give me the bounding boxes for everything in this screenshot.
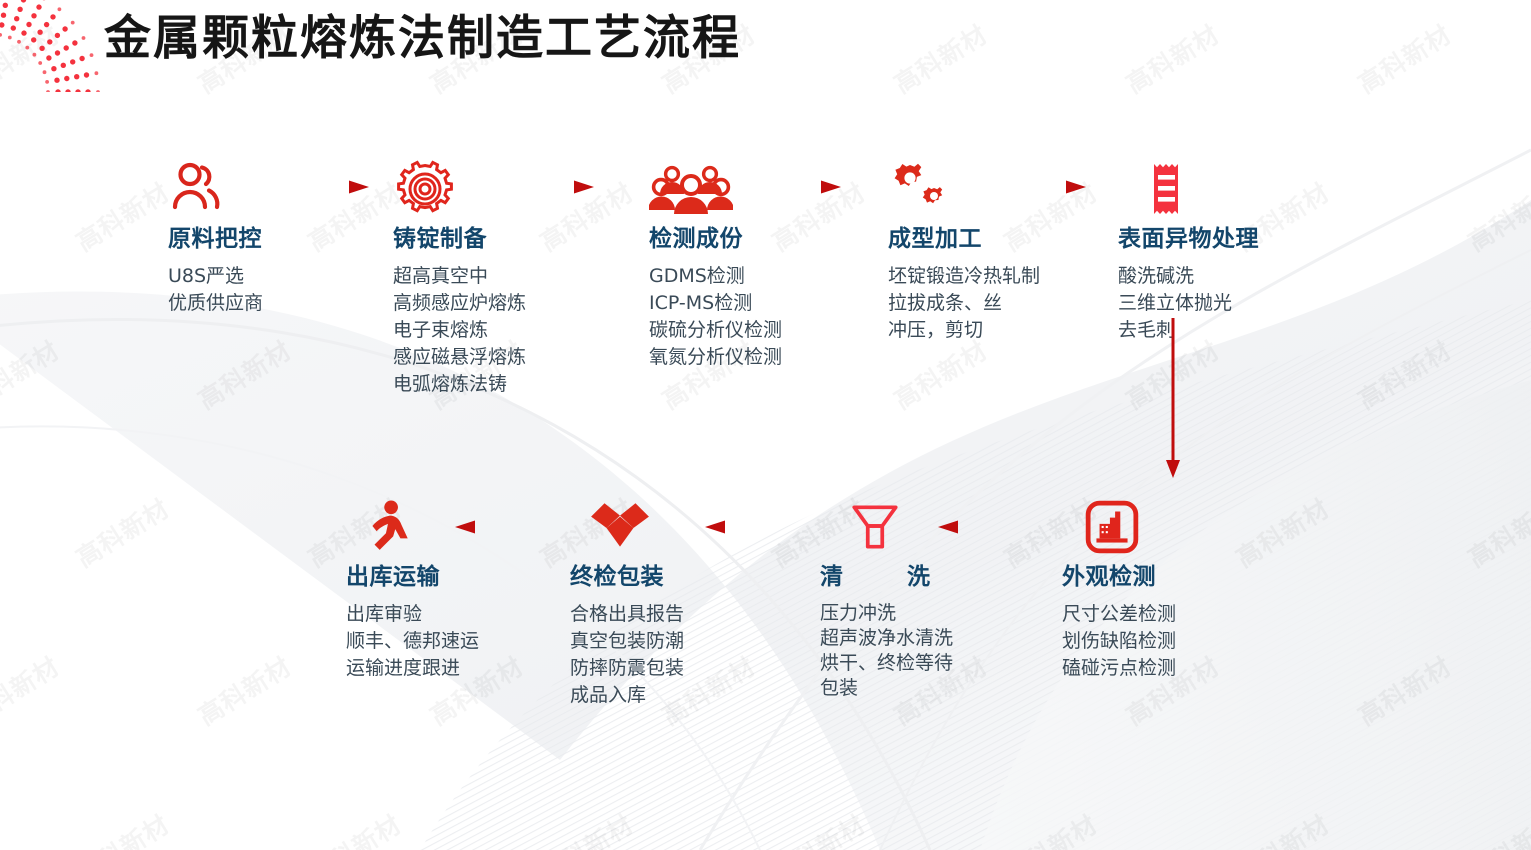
page-title: 金属颗粒熔炼法制造工艺流程 (104, 6, 741, 72)
step-detail-line: 真空包装防潮 (570, 628, 684, 655)
arc-dot (90, 53, 94, 57)
arc-dot (70, 59, 75, 64)
step-detail-line: 去毛刺 (1118, 317, 1259, 344)
arc-dot (61, 63, 66, 68)
step-detail-list: 压力冲洗 超声波净水清洗 烘干、终检等待包装 (820, 601, 970, 701)
step-detail-line: 高频感应炉熔炼 (393, 290, 526, 317)
arc-dot (31, 13, 36, 18)
step-detail-list: 酸洗碱洗 三维立体抛光 去毛刺 (1118, 263, 1259, 344)
receipt-icon (1136, 160, 1196, 218)
step-detail-list: 尺寸公差检测 划伤缺陷检测 磕碰污点检测 (1062, 601, 1176, 682)
arc-dot (58, 7, 62, 11)
step-detail-line: ICP-MS检测 (649, 290, 782, 317)
step-detail-line: 磕碰污点检测 (1062, 655, 1176, 682)
arc-dot (51, 66, 56, 71)
flow-step-composition-test[interactable]: 检测成份 GDMS检测 ICP-MS检测 碳硫分析仪检测 氧氮分析仪检测 (649, 160, 782, 371)
step-detail-line: 冲压，剪切 (888, 317, 1040, 344)
arc-dot (11, 25, 16, 30)
arc-dot (0, 33, 2, 37)
flow-step-ingot-prep[interactable]: 铸锭制备 超高真空中 高频感应炉熔炼 电子束熔炼 感应磁悬浮熔炼 电弧熔炼法铸 (393, 160, 526, 398)
step-title: 成型加工 (888, 224, 1040, 254)
arc-dot (38, 61, 42, 65)
arrow-step7-to-step8 (705, 518, 795, 536)
step-title: 清 洗 (820, 562, 970, 592)
step-detail-line: 优质供应商 (168, 290, 263, 317)
arc-dot (55, 33, 60, 38)
arc-dot (37, 30, 42, 35)
arc-dot (96, 90, 100, 92)
arc-dot (8, 36, 12, 40)
arc-dot (1, 13, 6, 18)
step-detail-list: GDMS检测 ICP-MS检测 碳硫分析仪检测 氧氮分析仪检测 (649, 263, 782, 371)
arrow-step1-to-step2 (293, 178, 370, 196)
arc-dot (33, 53, 37, 57)
step-title: 检测成份 (649, 224, 782, 254)
funnel-icon (846, 498, 904, 556)
arc-dot (84, 72, 89, 77)
arc-dot (64, 76, 69, 81)
step-detail-line: 坯锭锻造冷热轧制 (888, 263, 1040, 290)
step-detail-line: 电弧熔炼法铸 (393, 371, 526, 398)
arc-dot (47, 39, 52, 44)
step-detail-line: 运输进度跟进 (346, 655, 479, 682)
factory-inspect-icon (1084, 498, 1140, 556)
arc-dot (21, 30, 26, 35)
arc-dot (46, 90, 50, 92)
flow-step-shipping[interactable]: 出库运输 出库审验 顺丰、德邦速运 运输进度跟进 (346, 498, 479, 682)
step-detail-line: 电子束熔炼 (393, 317, 526, 344)
step-detail-line: 烘干、终检等待包装 (820, 651, 970, 701)
step-detail-line: 压力冲洗 (820, 601, 970, 626)
flow-step-final-packing[interactable]: 终检包装 合格出具报告 真空包装防潮 防摔防震包装 成品入库 (570, 498, 684, 709)
gear-icon (393, 160, 457, 218)
arc-dot (50, 14, 55, 19)
step-detail-list: 超高真空中 高频感应炉熔炼 电子束熔炼 感应磁悬浮熔炼 电弧熔炼法铸 (393, 263, 526, 398)
step-detail-list: 合格出具报告 真空包装防潮 防摔防震包装 成品入库 (570, 601, 684, 709)
step-detail-line: 防摔防震包装 (570, 655, 684, 682)
flow-step-raw-material[interactable]: 原料把控 U8S严选 优质供应商 (168, 160, 263, 317)
arc-dot (55, 89, 60, 92)
step-title: 出库运输 (346, 562, 479, 592)
arc-dot (43, 70, 47, 74)
step-detail-list: 坯锭锻造冷热轧制 拉拔成条、丝 冲压，剪切 (888, 263, 1040, 344)
arc-dot (21, 0, 26, 3)
step-detail-line: 酸洗碱洗 (1118, 263, 1259, 290)
step-detail-line: 合格出具报告 (570, 601, 684, 628)
step-title: 表面异物处理 (1118, 224, 1259, 254)
arrow-step5-to-step6 (1158, 318, 1188, 480)
arc-dot (75, 89, 80, 92)
arc-dot (79, 56, 84, 61)
arc-dot (54, 78, 59, 83)
arc-dot (82, 36, 86, 40)
step-detail-line: U8S严选 (168, 263, 263, 290)
step-detail-line: 碳硫分析仪检测 (649, 317, 782, 344)
step-detail-list: 出库审验 顺丰、德邦速运 运输进度跟进 (346, 601, 479, 682)
walking-person-icon (360, 498, 416, 556)
step-detail-line: 拉拔成条、丝 (888, 290, 1040, 317)
arrow-step4-to-step5 (1010, 178, 1087, 196)
arc-dot (71, 21, 75, 25)
arc-dot (65, 89, 70, 92)
flow-step-appearance-inspect[interactable]: 外观检测 尺寸公差检测 划伤缺陷检测 磕碰污点检测 (1062, 498, 1176, 682)
arc-dot (31, 37, 36, 42)
step-detail-line: GDMS检测 (649, 263, 782, 290)
flow-step-surface-treatment[interactable]: 表面异物处理 酸洗碱洗 三维立体抛光 去毛刺 (1118, 160, 1259, 344)
arc-dot (45, 80, 49, 84)
open-box-icon (588, 498, 652, 556)
step-detail-line: 感应磁悬浮熔炼 (393, 344, 526, 371)
arc-dot (64, 45, 69, 50)
step-title: 终检包装 (570, 562, 684, 592)
gears-icon (888, 160, 952, 218)
step-detail-line: 顺丰、德邦速运 (346, 628, 479, 655)
arc-dot (17, 40, 21, 44)
arc-dot (25, 46, 29, 50)
step-title: 原料把控 (168, 224, 263, 254)
arc-dot (26, 22, 31, 27)
arc-dot (74, 74, 79, 79)
step-detail-line: 成品入库 (570, 682, 684, 709)
arc-dot (44, 22, 49, 27)
flow-step-cleaning[interactable]: 清 洗 压力冲洗 超声波净水清洗 烘干、终检等待包装 (820, 498, 970, 701)
arc-dot (62, 26, 67, 31)
arc-dot (17, 7, 22, 12)
arc-dot (46, 55, 51, 60)
users-icon (168, 160, 230, 218)
page-header: 金属颗粒熔炼法制造工艺流程 (0, 0, 1531, 92)
step-detail-line: 超声波净水清洗 (820, 626, 970, 651)
arc-dot (0, 22, 5, 27)
step-detail-line: 氧氮分析仪检测 (649, 344, 782, 371)
arc-dot (85, 89, 90, 92)
red-dotted-arc-icon (0, 0, 106, 92)
arrow-step3-to-step4 (765, 178, 842, 196)
people-group-icon (649, 160, 733, 218)
arc-dot (55, 50, 60, 55)
step-detail-line: 划伤缺陷检测 (1062, 628, 1176, 655)
arc-dot (39, 46, 44, 51)
step-detail-list: U8S严选 优质供应商 (168, 263, 263, 317)
step-detail-line: 尺寸公差检测 (1062, 601, 1176, 628)
arc-dot (14, 16, 19, 21)
step-title: 外观检测 (1062, 562, 1176, 592)
step-detail-line: 三维立体抛光 (1118, 290, 1259, 317)
process-flow-diagram: 原料把控 U8S严选 优质供应商 铸锭制备 超高真空中 高频感应炉熔炼 电子束熔… (0, 0, 1531, 850)
step-title: 铸锭制备 (393, 224, 526, 254)
arc-dot (3, 3, 8, 8)
step-detail-line: 出库审验 (346, 601, 479, 628)
arc-dot (95, 71, 99, 75)
arc-dot (72, 40, 77, 45)
step-detail-line: 超高真空中 (393, 263, 526, 290)
arrow-step2-to-step3 (518, 178, 595, 196)
arc-dot (36, 4, 41, 9)
